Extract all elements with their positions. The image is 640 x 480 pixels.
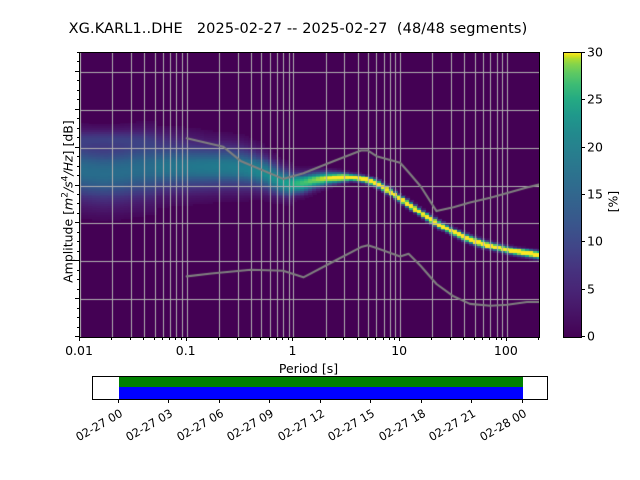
colorbar-tick-label: 15 xyxy=(587,187,603,202)
x-tick-minor xyxy=(450,337,451,340)
y-tick-mark xyxy=(75,109,79,110)
y-tick-minor xyxy=(77,232,80,233)
x-tick-minor xyxy=(489,337,490,340)
coverage-timeline[interactable] xyxy=(92,376,548,400)
timeline-tick-mark xyxy=(320,399,321,403)
timeline-tick-mark xyxy=(370,399,371,403)
x-tick-mark xyxy=(186,337,187,341)
colorbar-tick-mark xyxy=(581,336,585,337)
y-tick-minor xyxy=(77,52,80,53)
x-tick-minor xyxy=(474,337,475,340)
x-tick-label: 1 xyxy=(288,343,296,358)
x-tick-minor xyxy=(343,337,344,340)
colorbar-label: [%] xyxy=(606,162,621,242)
page-title: XG.KARL1..DHE 2025-02-27 -- 2025-02-27 (… xyxy=(0,21,596,37)
y-tick-mark xyxy=(75,185,79,186)
y-tick-mark xyxy=(75,147,79,148)
x-tick-minor xyxy=(218,337,219,340)
x-tick-minor xyxy=(383,337,384,340)
colorbar-tick-mark xyxy=(581,289,585,290)
coverage-bar-data-availability xyxy=(119,387,523,399)
colorbar-tick-label: 5 xyxy=(587,281,595,296)
x-tick-minor xyxy=(154,337,155,340)
y-tick-minor xyxy=(77,279,80,280)
x-tick-minor xyxy=(375,337,376,340)
y-tick-minor xyxy=(77,194,80,195)
y-tick-mark xyxy=(75,260,79,261)
x-tick-label: 0.01 xyxy=(65,343,93,358)
y-tick-minor xyxy=(77,327,80,328)
x-tick-minor xyxy=(394,337,395,340)
x-tick-minor xyxy=(288,337,289,340)
timeline-tick-mark xyxy=(219,399,220,403)
colorbar-tick-mark xyxy=(581,241,585,242)
x-tick-minor xyxy=(269,337,270,340)
x-tick-minor xyxy=(276,337,277,340)
x-tick-minor xyxy=(169,337,170,340)
x-tick-minor xyxy=(431,337,432,340)
x-axis-label: Period [s] xyxy=(79,361,538,376)
x-tick-minor xyxy=(496,337,497,340)
y-tick-minor xyxy=(77,156,80,157)
timeline-tick-mark xyxy=(118,399,119,403)
y-tick-minor xyxy=(77,118,80,119)
x-tick-mark xyxy=(506,337,507,341)
colorbar-tick-mark xyxy=(581,194,585,195)
colorbar-tick-mark xyxy=(581,147,585,148)
timeline-tick-mark xyxy=(168,399,169,403)
timeline-tick-mark xyxy=(471,399,472,403)
x-tick-minor xyxy=(181,337,182,340)
colorbar-tick-label: 25 xyxy=(587,92,603,107)
ppsd-plot-area[interactable] xyxy=(79,52,540,338)
x-tick-minor xyxy=(111,337,112,340)
ppsd-histogram xyxy=(80,53,539,337)
x-tick-minor xyxy=(389,337,390,340)
x-tick-minor xyxy=(325,337,326,340)
y-tick-minor xyxy=(77,270,80,271)
x-tick-minor xyxy=(357,337,358,340)
x-tick-minor xyxy=(482,337,483,340)
x-tick-mark xyxy=(79,337,80,341)
timeline-tick-mark xyxy=(522,399,523,403)
y-tick-minor xyxy=(77,61,80,62)
x-tick-label: 0.1 xyxy=(176,343,196,358)
timeline-tick-mark xyxy=(421,399,422,403)
x-tick-label: 10 xyxy=(391,343,407,358)
x-tick-minor xyxy=(237,337,238,340)
colorbar-tick-label: 0 xyxy=(587,329,595,344)
y-tick-mark xyxy=(75,222,79,223)
y-tick-minor xyxy=(77,317,80,318)
colorbar-tick-label: 30 xyxy=(587,45,603,60)
y-tick-minor xyxy=(77,175,80,176)
x-tick-minor xyxy=(175,337,176,340)
y-tick-minor xyxy=(77,99,80,100)
y-tick-minor xyxy=(77,308,80,309)
x-tick-minor xyxy=(143,337,144,340)
colorbar-tick-label: 20 xyxy=(587,139,603,154)
y-tick-minor xyxy=(77,203,80,204)
y-tick-minor xyxy=(77,90,80,91)
y-tick-minor xyxy=(77,128,80,129)
colorbar-tick-mark xyxy=(581,99,585,100)
x-tick-minor xyxy=(501,337,502,340)
x-tick-mark xyxy=(399,337,400,341)
coverage-bar-psd-segments xyxy=(119,377,523,387)
y-tick-minor xyxy=(77,137,80,138)
x-tick-minor xyxy=(538,337,539,340)
colorbar-tick-label: 10 xyxy=(587,234,603,249)
x-tick-minor xyxy=(367,337,368,340)
y-tick-minor xyxy=(77,213,80,214)
x-tick-mark xyxy=(292,337,293,341)
y-tick-mark xyxy=(75,298,79,299)
y-tick-minor xyxy=(77,289,80,290)
y-tick-minor xyxy=(77,241,80,242)
timeline-tick-mark xyxy=(269,399,270,403)
x-tick-minor xyxy=(282,337,283,340)
colorbar[interactable] xyxy=(563,52,582,338)
y-tick-mark xyxy=(75,71,79,72)
colorbar-tick-mark xyxy=(581,52,585,53)
x-tick-minor xyxy=(130,337,131,340)
y-tick-minor xyxy=(77,251,80,252)
x-tick-minor xyxy=(463,337,464,340)
x-tick-minor xyxy=(250,337,251,340)
y-axis-label: Amplitude [m2/s4/Hz] [dB] xyxy=(60,52,75,352)
x-tick-minor xyxy=(260,337,261,340)
x-tick-minor xyxy=(162,337,163,340)
y-tick-minor xyxy=(77,80,80,81)
ppsd-density-canvas xyxy=(80,53,539,337)
x-tick-label: 100 xyxy=(494,343,518,358)
y-tick-minor xyxy=(77,166,80,167)
